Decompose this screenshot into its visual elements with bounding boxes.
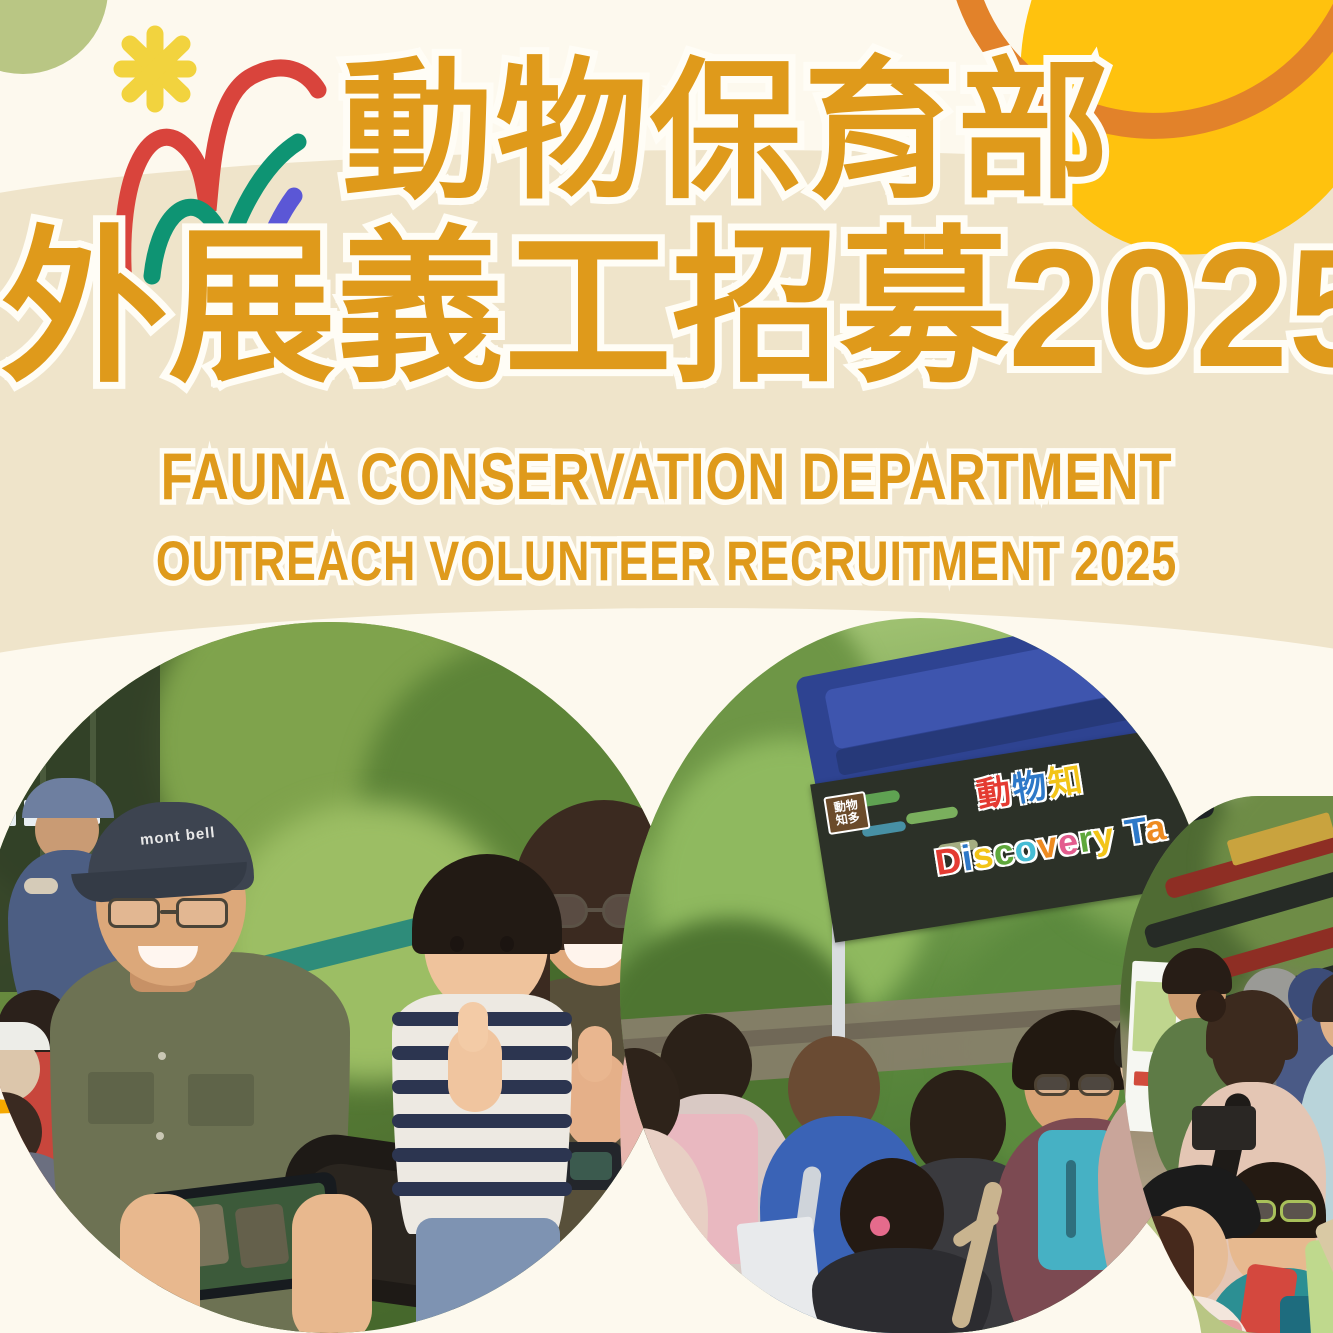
photo-owl-handling: mont bell (0, 622, 680, 1333)
photo-table-scene (1120, 796, 1333, 1333)
badge-line-2: 知多 (835, 810, 861, 828)
subtitle-english-line-1: FAUNA CONSERVATION DEPARTMENT (133, 438, 1199, 514)
poster-root: 動物保育部 外展義工招募2025 FAUNA CONSERVATION DEPA… (0, 0, 1333, 1333)
title-chinese-line-1: 動物保育部 (0, 56, 1333, 208)
title-chinese-line-2: 外展義工招募2025 (0, 224, 1333, 392)
photo-exhibit-table (1120, 796, 1333, 1333)
photo-collage: mont bell (0, 600, 1333, 1333)
booth-mascot-badge: 動物 知多 (823, 791, 870, 835)
headline-block: 動物保育部 外展義工招募2025 FAUNA CONSERVATION DEPA… (0, 56, 1333, 593)
photo-owl-scene: mont bell (0, 622, 680, 1333)
subtitle-english-line-2: OUTREACH VOLUNTEER RECRUITMENT 2025 (133, 528, 1199, 593)
